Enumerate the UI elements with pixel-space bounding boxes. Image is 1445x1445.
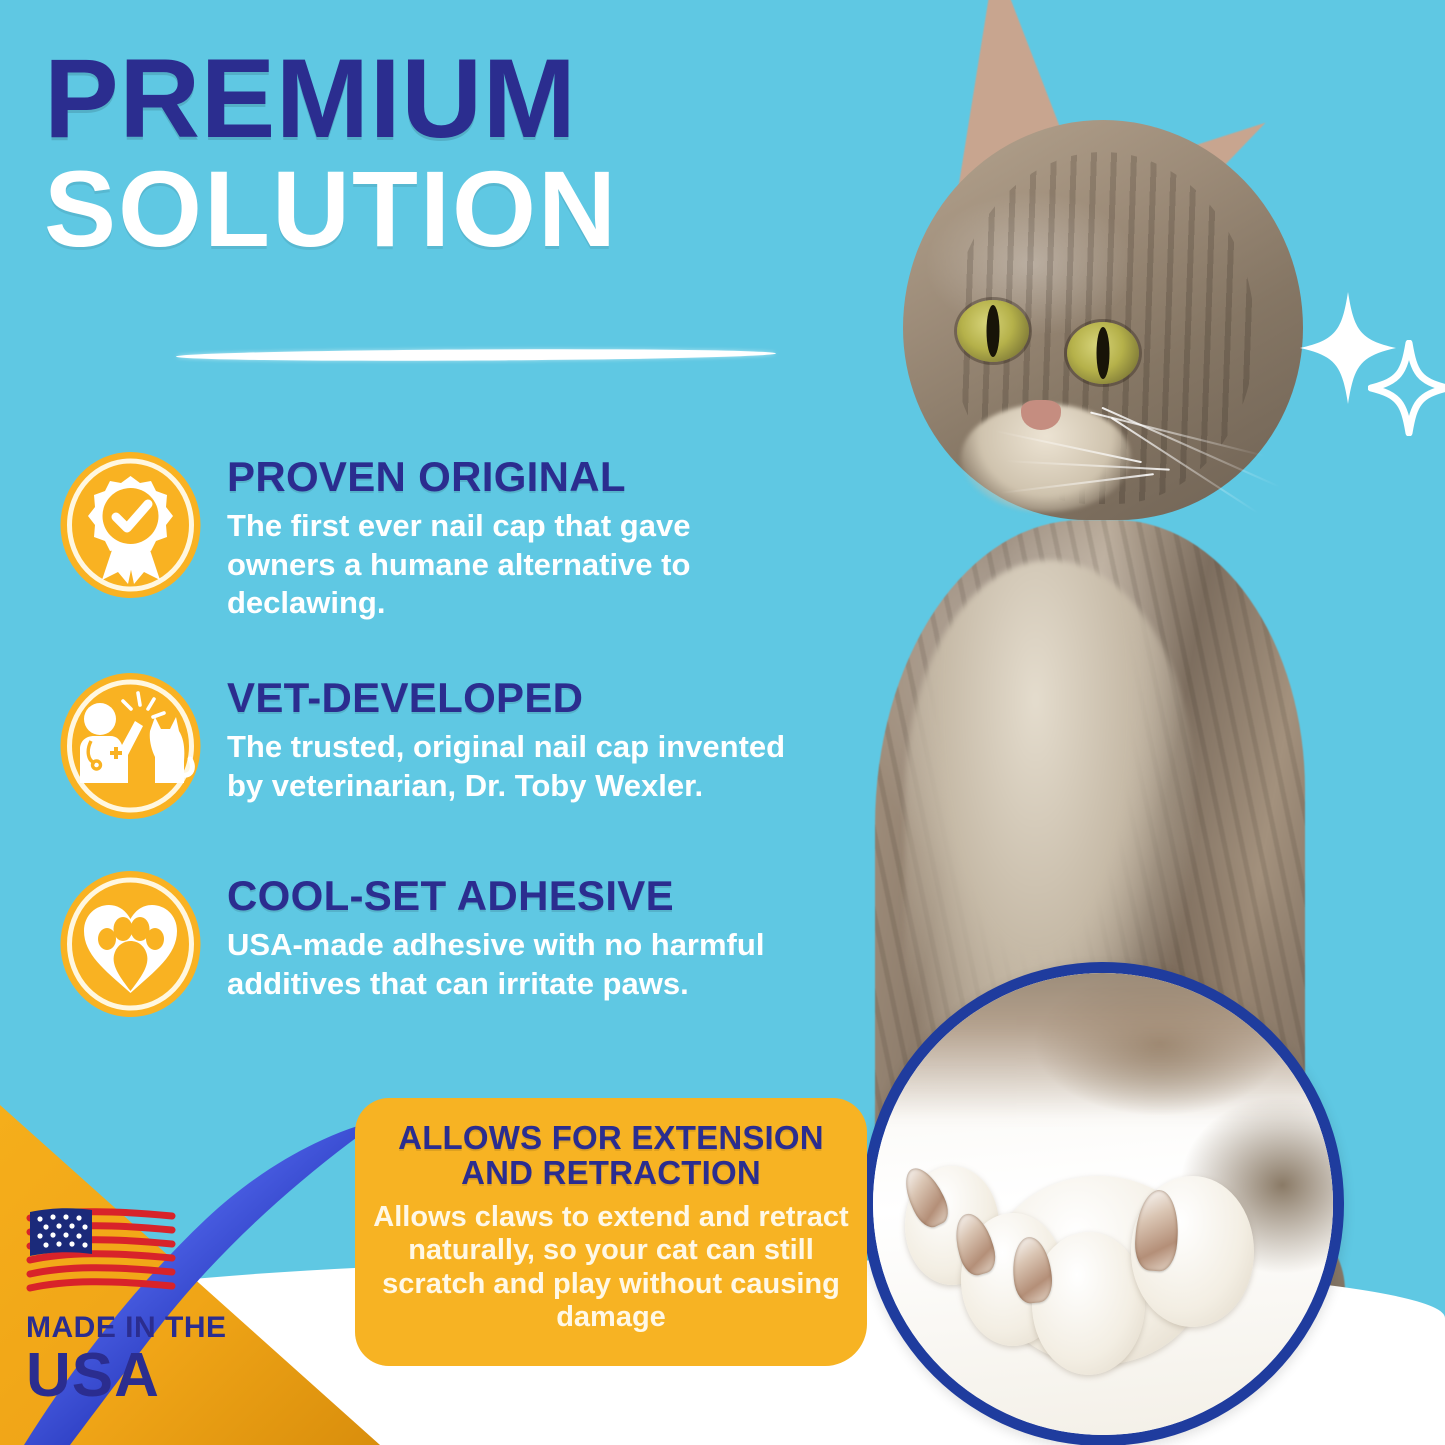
award-ribbon-check-icon [58, 450, 203, 600]
paw-toe-pad [1032, 1232, 1145, 1374]
feature-text: VET-DEVELOPED The trusted, original nail… [227, 671, 807, 805]
callout-title: ALLOWS FOR EXTENSION AND RETRACTION [373, 1120, 849, 1191]
headline-line-2: SOLUTION [44, 156, 834, 262]
cat-eye-left [957, 300, 1029, 362]
feature-list: PROVEN ORIGINAL The first ever nail cap … [58, 450, 838, 1067]
feature-description: The trusted, original nail cap invented … [227, 728, 807, 806]
divider-swoosh [176, 348, 776, 362]
feature-title: PROVEN ORIGINAL [227, 456, 807, 499]
paw-photo [867, 967, 1339, 1441]
page-title: PREMIUM SOLUTION [44, 46, 834, 262]
feature-description: USA-made adhesive with no harmful additi… [227, 926, 807, 1004]
usa-label: USA [26, 1345, 256, 1407]
extension-retraction-callout: ALLOWS FOR EXTENSION AND RETRACTION Allo… [355, 1098, 867, 1366]
product-feature-banner: PREMIUM SOLUTION PROVEN ORIGINAL The fir [0, 0, 1445, 1445]
cat-eye-right [1067, 322, 1139, 384]
callout-description: Allows claws to extend and retract natur… [373, 1201, 849, 1336]
made-in-the-label: MADE IN THE [26, 1313, 256, 1343]
feature-title: VET-DEVELOPED [227, 677, 807, 720]
sparkle-outline-icon [1368, 340, 1445, 441]
feature-description: The first ever nail cap that gave owners… [227, 507, 807, 623]
heart-paw-icon [58, 869, 203, 1019]
feature-title: COOL-SET ADHESIVE [227, 875, 807, 918]
feature-item-cool-set-adhesive: COOL-SET ADHESIVE USA-made adhesive with… [58, 869, 838, 1019]
usa-flag-icon [26, 1206, 176, 1298]
made-in-usa-badge: MADE IN THE USA [26, 1206, 256, 1407]
headline-line-1: PREMIUM [44, 46, 834, 152]
feature-text: COOL-SET ADHESIVE USA-made adhesive with… [227, 869, 807, 1003]
paw-closeup-inset [838, 938, 1368, 1445]
feature-item-proven-original: PROVEN ORIGINAL The first ever nail cap … [58, 450, 838, 623]
vet-high-five-cat-icon [58, 671, 203, 821]
feature-text: PROVEN ORIGINAL The first ever nail cap … [227, 450, 807, 623]
feature-item-vet-developed: VET-DEVELOPED The trusted, original nail… [58, 671, 838, 821]
